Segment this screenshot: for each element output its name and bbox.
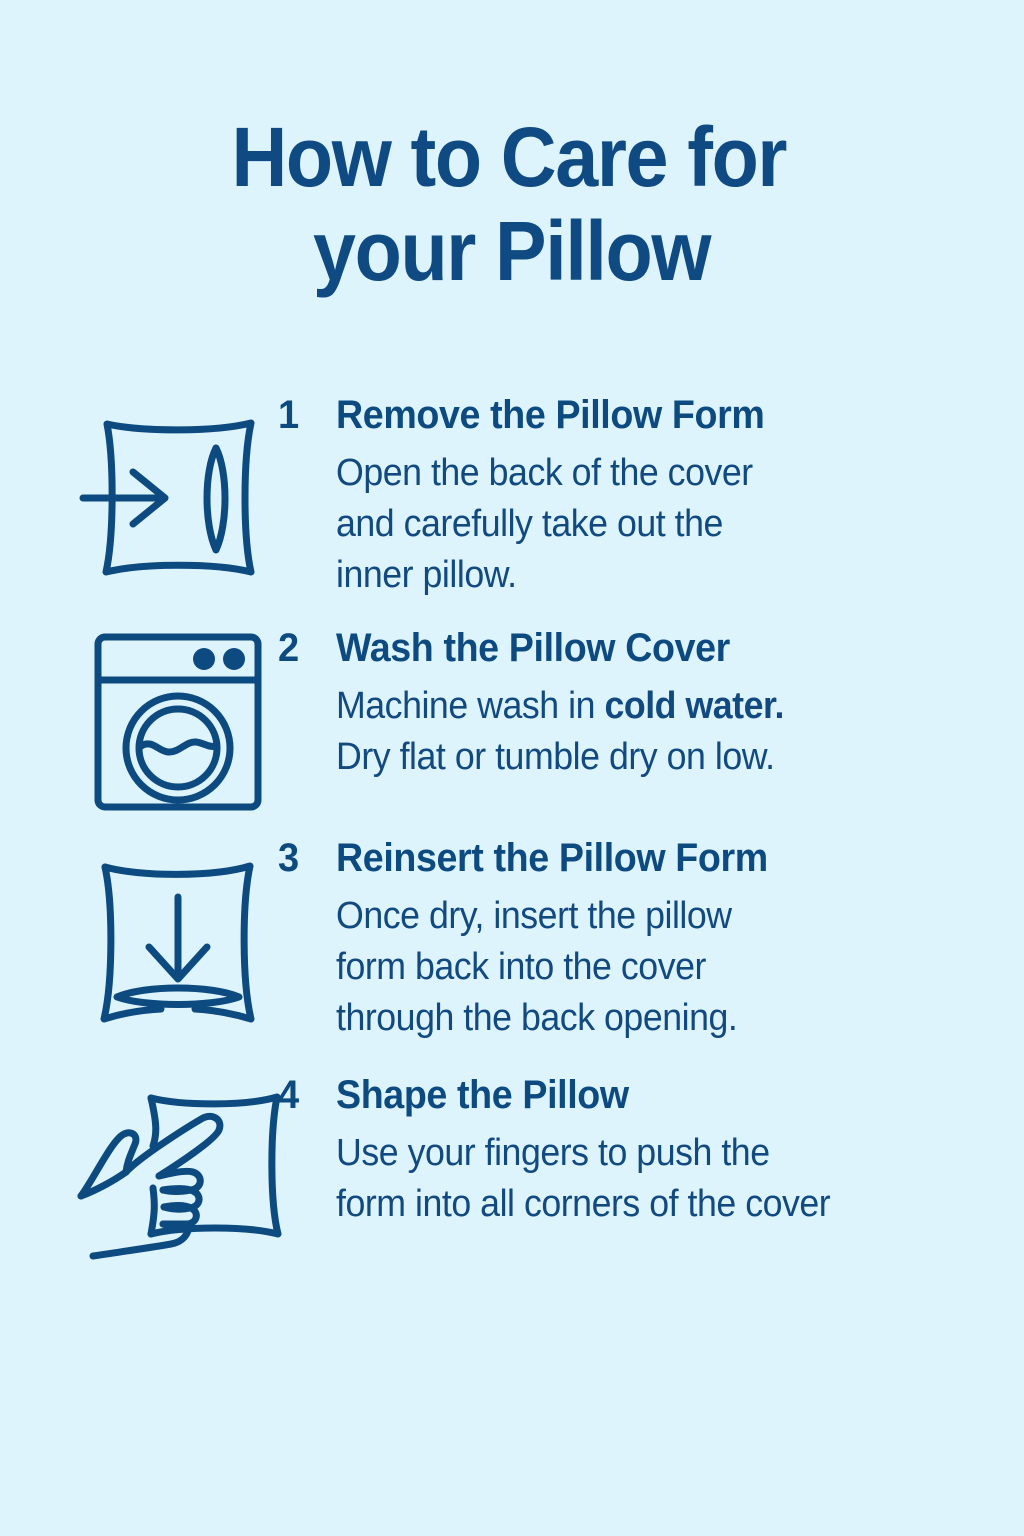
step-1-text: Remove the Pillow Form Open the back of … (320, 392, 1024, 601)
step-1-icon-wrap (78, 392, 278, 585)
hand-shaping-pillow-icon (71, 1084, 286, 1259)
step-1-heading: Remove the Pillow Form (336, 392, 966, 438)
step-3-body: Once dry, insert the pillow form back in… (336, 891, 966, 1044)
step-4-heading: Shape the Pillow (336, 1072, 966, 1118)
step-1-body-line-2: and carefully take out the (336, 499, 966, 550)
washing-machine-icon (92, 631, 264, 813)
step-2-heading: Wash the Pillow Cover (336, 625, 966, 671)
page-title-line-2: your Pillow (40, 204, 983, 298)
step-4-text: Shape the Pillow Use your fingers to pus… (320, 1072, 1024, 1230)
step-3-heading: Reinsert the Pillow Form (336, 835, 966, 881)
step-2-body-line-1: Machine wash in cold water. (336, 681, 966, 732)
step-1-number: 1 (278, 392, 318, 438)
steps-list: 1 Remove the Pillow Form Open the back o… (0, 392, 1024, 1259)
step-4-icon-wrap (78, 1072, 278, 1259)
step-item-3: 3 Reinsert the Pillow Form Once dry, ins… (0, 835, 1024, 1044)
step-2-body-emphasis: cold water (604, 685, 774, 727)
step-2-body-line-2: Dry flat or tumble dry on low. (336, 732, 966, 783)
step-1-body: Open the back of the cover and carefully… (336, 448, 966, 601)
pillow-with-down-arrow-icon (83, 855, 273, 1033)
step-3-icon-wrap (78, 835, 278, 1033)
step-item-1: 1 Remove the Pillow Form Open the back o… (0, 392, 1024, 601)
step-2-body-emphasis-period: . (774, 685, 783, 727)
step-3-number: 3 (278, 835, 318, 881)
step-4-body-line-2: form into all corners of the cover (336, 1179, 966, 1230)
step-item-2: 2 Wash the Pillow Cover Machine wash in … (0, 625, 1024, 813)
step-4-number: 4 (278, 1072, 318, 1118)
step-2-text: Wash the Pillow Cover Machine wash in co… (320, 625, 1024, 783)
pillow-with-arrow-in-icon (83, 410, 273, 585)
page-title: How to Care for your Pillow (41, 110, 983, 298)
step-2-body-line-1-lead: Machine wash in (336, 685, 604, 727)
step-1-body-line-3: inner pillow. (336, 550, 966, 601)
step-2-icon-wrap (78, 625, 278, 813)
page-title-line-1: How to Care for (35, 110, 984, 204)
step-3-body-line-2: form back into the cover (336, 942, 966, 993)
step-3-body-line-1: Once dry, insert the pillow (336, 891, 966, 942)
step-1-body-line-1: Open the back of the cover (336, 448, 966, 499)
step-4-body: Use your fingers to push the form into a… (336, 1128, 966, 1230)
step-4-body-line-1: Use your fingers to push the (336, 1128, 966, 1179)
step-item-4: 4 Shape the Pillow Use your fingers to p… (0, 1072, 1024, 1259)
infographic-page: How to Care for your Pillow (0, 0, 1024, 1536)
step-2-number: 2 (278, 625, 318, 671)
step-2-body: Machine wash in cold water. Dry flat or … (336, 681, 966, 783)
step-3-body-line-3: through the back opening. (336, 993, 966, 1044)
step-3-text: Reinsert the Pillow Form Once dry, inser… (320, 835, 1024, 1044)
